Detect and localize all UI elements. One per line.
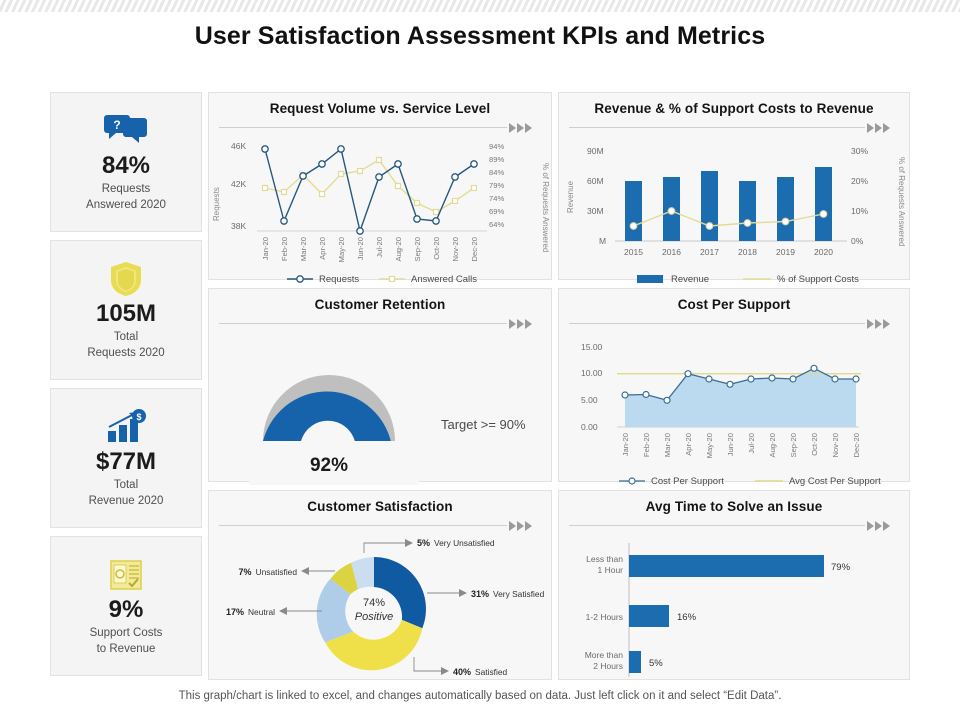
bar-growth-dollar-icon: $ [104,407,148,447]
donut-label-value: 31% [471,589,489,599]
title-rule [219,121,541,133]
y-tick-right: 94% [489,142,504,151]
x-tick: Jun-20 [356,237,365,260]
y-tick-right: 64% [489,220,504,229]
chart-customer-retention: 92% Target >= 90% [209,329,551,491]
title-rule [219,519,541,531]
x-tick: Oct-20 [810,433,819,456]
y-tick: 42K [231,179,246,189]
x-tick: Sep-20 [413,237,422,262]
panel-title: Request Volume vs. Service Level [209,93,551,116]
x-tick: Jul-20 [747,433,756,454]
x-tick: Aug-20 [768,433,777,458]
legend-label: Avg Cost Per Support [789,476,881,487]
y-tick: 5.00 [581,395,598,405]
kpi-label: Total Revenue 2020 [89,478,164,509]
donut-label-value: 40% [453,667,471,677]
x-tick: Sep-20 [789,433,798,458]
y-tick: 10.00 [581,368,603,378]
x-tick: Feb-20 [280,237,289,261]
panel-title: Customer Satisfaction [209,491,551,514]
x-tick: Oct-20 [432,237,441,260]
y-axis-title: Revenue [566,180,575,213]
panel-customer-retention[interactable]: Customer Retention 92% Target >= 90% [208,288,552,482]
donut-label-name: Satisfied [475,667,507,677]
kpi-label: Total Requests 2020 [87,330,164,361]
donut-label-value: 5% [417,538,430,548]
panel-customer-satisfaction[interactable]: Customer Satisfaction 74% [208,490,552,680]
x-tick: 2018 [738,247,757,257]
speech-bubble-question-icon: ? [104,111,148,151]
category-label: Less than [586,554,623,564]
x-tick: Nov-20 [831,433,840,457]
donut-label: 31%Very Satisfied [471,589,545,599]
x-tick: 2015 [624,247,643,257]
y-axis-right-title: % of Requests Answered [897,157,906,246]
x-tick: 2017 [700,247,719,257]
y-tick: 30M [587,206,604,216]
y-tick: 46K [231,141,246,151]
y-axis-right-title: % of Requests Answered [541,163,550,252]
title-rule [569,121,899,133]
chart-customer-satisfaction: 74% Positive 5%Very Unsatisfied 31%Very … [209,531,551,689]
x-tick: Dec-20 [852,433,861,457]
y-tick-right: 89% [489,155,504,164]
kpi-sidebar: ? 84% Requests Answered 2020 105M Total … [50,92,202,684]
x-tick: 2016 [662,247,681,257]
chart-legend: Cost Per Support Avg Cost Per Support [619,476,881,487]
footer-note: This graph/chart is linked to excel, and… [0,690,960,702]
panel-title: Cost Per Support [559,289,909,312]
legend-label: % of Support Costs [777,274,859,285]
kpi-label: Requests Answered 2020 [86,182,166,213]
y-tick-right: 79% [489,181,504,190]
kpi-label-line1: Total [114,331,138,343]
kpi-label-line1: Support Costs [90,627,163,639]
x-tick: Feb-20 [642,433,651,457]
panel-title: Customer Retention [209,289,551,312]
x-tick: Apr-20 [318,237,327,260]
panel-cost-per-support[interactable]: Cost Per Support 15.00 10.00 5.00 0.00 [558,288,910,482]
legend-label: Revenue [671,274,709,285]
chart-revenue-support-costs: Revenue % of Requests Answered 90M 60M 3… [559,133,909,289]
x-tick: Dec-20 [470,237,479,261]
y-tick-right: 10% [851,206,868,216]
x-tick: Aug-20 [394,237,403,262]
y-tick-right: 0% [851,236,864,246]
donut-label: 17%Neutral [226,607,275,617]
y-tick-right: 74% [489,194,504,203]
x-tick: Mar-20 [663,433,672,457]
kpi-card-support-costs[interactable]: 9% Support Costs to Revenue [50,536,202,676]
y-tick: M [599,236,606,246]
gauge-target-label: Target >= 90% [441,417,526,432]
donut-label-value: 7% [239,567,252,577]
kpi-label-line2: Revenue 2020 [89,495,164,507]
legend-label: Answered Calls [411,274,477,285]
y-tick: 0.00 [581,422,598,432]
chart-cost-per-support: 15.00 10.00 5.00 0.00 Jan-20 Feb-20 Mar-… [559,329,909,491]
title-rule [569,519,899,531]
kpi-label-line1: Requests [102,183,151,195]
title-rule [569,317,899,329]
donut-label-name: Very Unsatisfied [434,538,495,548]
kpi-card-total-requests[interactable]: 105M Total Requests 2020 [50,240,202,380]
y-tick-right: 30% [851,146,868,156]
kpi-label-line2: Requests 2020 [87,347,164,359]
x-tick: Jan-20 [261,237,270,260]
bar [629,605,669,627]
chart-avg-time-to-solve: 79% 16% 5% Less than 1 Hour 1-2 Hours Mo… [559,531,909,689]
legend-label: Requests [319,274,359,285]
x-tick: May-20 [705,433,714,458]
x-tick: 2020 [814,247,833,257]
gauge-value: 92% [310,455,348,476]
title-rule [219,317,541,329]
kpi-card-requests-answered[interactable]: ? 84% Requests Answered 2020 [50,92,202,232]
page-title: User Satisfaction Assessment KPIs and Me… [0,22,960,51]
kpi-label-line1: Total [114,479,138,491]
kpi-value: 84% [102,153,150,179]
x-tick: Mar-20 [299,237,308,261]
panel-title: Avg Time to Solve an Issue [559,491,909,514]
category-label: 1-2 Hours [586,612,623,622]
chart-legend: Revenue % of Support Costs [637,274,859,285]
y-tick-right: 20% [851,176,868,186]
donut-label-name: Unsatisfied [256,567,298,577]
category-label: 1 Hour [597,565,623,575]
kpi-label-line2: Answered 2020 [86,199,166,211]
y-tick: 90M [587,146,604,156]
kpi-value: 9% [109,597,144,623]
donut-center-label: Positive [355,611,394,623]
x-tick: Jan-20 [621,433,630,456]
donut-center-value: 74% [363,597,385,609]
x-tick: Jul-20 [375,237,384,258]
kpi-label: Support Costs to Revenue [90,626,163,657]
invoice-checklist-icon [108,555,144,595]
x-tick: Jun-20 [726,433,735,456]
kpi-value: $77M [96,449,156,475]
x-tick: Nov-20 [451,237,460,261]
donut-label-name: Very Satisfied [493,589,545,599]
kpi-label-line2: to Revenue [97,643,156,655]
bar [629,651,641,673]
donut-label-value: 17% [226,607,244,617]
category-label: 2 Hours [593,661,623,671]
y-tick-right: 69% [489,207,504,216]
panel-title: Revenue & % of Support Costs to Revenue [559,93,909,116]
y-axis-title: Requests [212,187,221,221]
donut-label: 7%Unsatisfied [239,567,298,577]
category-label: More than [585,650,624,660]
panel-avg-time-to-solve[interactable]: Avg Time to Solve an Issue 79% 16% 5% Le… [558,490,910,680]
x-tick: 2019 [776,247,795,257]
bar-series [625,167,832,241]
kpi-card-total-revenue[interactable]: $ $77M Total Revenue 2020 [50,388,202,528]
donut-label-name: Neutral [248,607,275,617]
kpi-value: 105M [96,301,156,327]
donut-label: 5%Very Unsatisfied [417,538,495,548]
chart-legend: Requests Answered Calls [287,274,477,285]
svg-text:$: $ [136,412,141,422]
y-tick: 60M [587,176,604,186]
svg-text:?: ? [113,118,120,132]
bar-value-label: 5% [649,658,663,669]
donut-label: 40%Satisfied [453,667,507,677]
x-tick: Apr-20 [684,433,693,456]
legend-label: Cost Per Support [651,476,724,487]
panel-revenue-support-costs[interactable]: Revenue & % of Support Costs to Revenue … [558,92,910,280]
y-tick: 15.00 [581,342,603,352]
y-tick: 38K [231,221,246,231]
bar [629,555,824,577]
shield-icon [108,259,144,299]
bar-value-label: 79% [831,562,851,573]
panel-request-volume[interactable]: Request Volume vs. Service Level Request… [208,92,552,280]
y-tick-right: 84% [489,168,504,177]
top-decorative-stripe [0,0,960,12]
x-tick: May-20 [337,237,346,262]
chart-request-volume: Requests % of Requests Answered 46K 42K … [209,133,551,289]
bar-value-label: 16% [677,612,697,623]
